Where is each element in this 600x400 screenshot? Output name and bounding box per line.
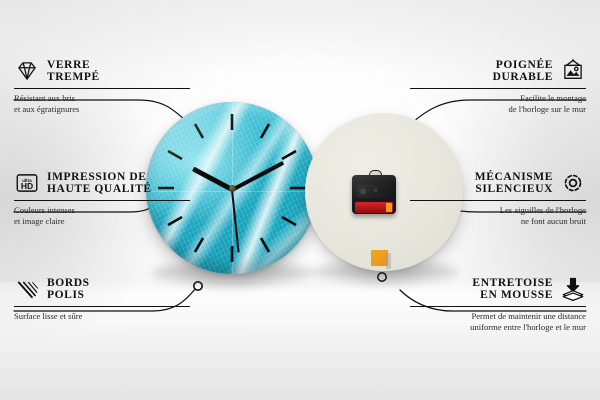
ultra-hd-icon: ultra HD [14,170,40,196]
press-down-pad-icon [560,276,586,302]
feature-title-line2: DURABLE [493,71,553,84]
feature-sub-line1: Résistant aux bris [14,93,190,103]
feature-title-line1: POIGNÉE [493,59,553,72]
foam-spacer [371,250,388,266]
movement-housing [352,175,396,214]
feature-title-line1: BORDS [47,277,90,290]
feature-rule [14,200,190,201]
feature-impression-haute-qualite: ultra HD IMPRESSION DE HAUTE QUALITÉ Cou… [14,170,190,226]
ultra-hd-main-text: HD [21,181,33,191]
feature-title-line2: TREMPÉ [47,71,100,84]
feature-entretoise-en-mousse: ENTRETOISE EN MOUSSE Permet de maintenir… [410,276,586,332]
feature-title-line2: EN MOUSSE [472,289,553,302]
hanging-frame-icon [560,58,586,84]
feature-mecanisme-silencieux: MÉCANISME SILENCIEUX Les aiguilles de l'… [410,170,586,226]
movement-detail [357,185,391,198]
feature-sub-line1: Couleurs intenses [14,205,190,215]
feature-rule [14,306,190,307]
diamond-icon [14,58,40,84]
infographic-canvas: VERRE TREMPÉ Résistant aux bris et aux é… [0,0,600,400]
feature-sub-line2: de l'horloge sur le mur [410,104,586,114]
feature-title-line2: POLIS [47,289,90,302]
feature-sub-line2: ne font aucun bruit [410,216,586,226]
feature-bords-polis: BORDS POLIS Surface lisse et sûre [14,276,190,322]
feature-title-line1: VERRE [47,59,100,72]
feature-title-line2: HAUTE QUALITÉ [47,183,152,196]
quartz-movement [352,170,396,214]
feature-verre-trempe: VERRE TREMPÉ Résistant aux bris et aux é… [14,58,190,114]
feature-sub-line2: uniforme entre l'horloge et le mur [410,322,586,332]
gear-icon [560,170,586,196]
feature-sub-line1: Surface lisse et sûre [14,311,190,321]
feature-title-line2: SILENCIEUX [475,183,553,196]
feature-sub-line2: et aux égratignures [14,104,190,114]
feature-sub-line1: Facilite le montage [410,93,586,103]
feature-sub-line2: et image claire [14,216,190,226]
feature-rule [410,306,586,307]
feature-rule [410,88,586,89]
polished-edge-icon [14,276,40,302]
battery [355,202,393,213]
feature-sub-line1: Les aiguilles de l'horloge [410,205,586,215]
feature-rule [14,88,190,89]
feature-poignee-durable: POIGNÉE DURABLE Facilite le montage de l… [410,58,586,114]
feature-rule [410,200,586,201]
feature-title-line1: ENTRETOISE [472,277,553,290]
feature-sub-line1: Permet de maintenir une distance [410,311,586,321]
feature-title-line1: MÉCANISME [475,171,553,184]
feature-title-line1: IMPRESSION DE [47,171,152,184]
